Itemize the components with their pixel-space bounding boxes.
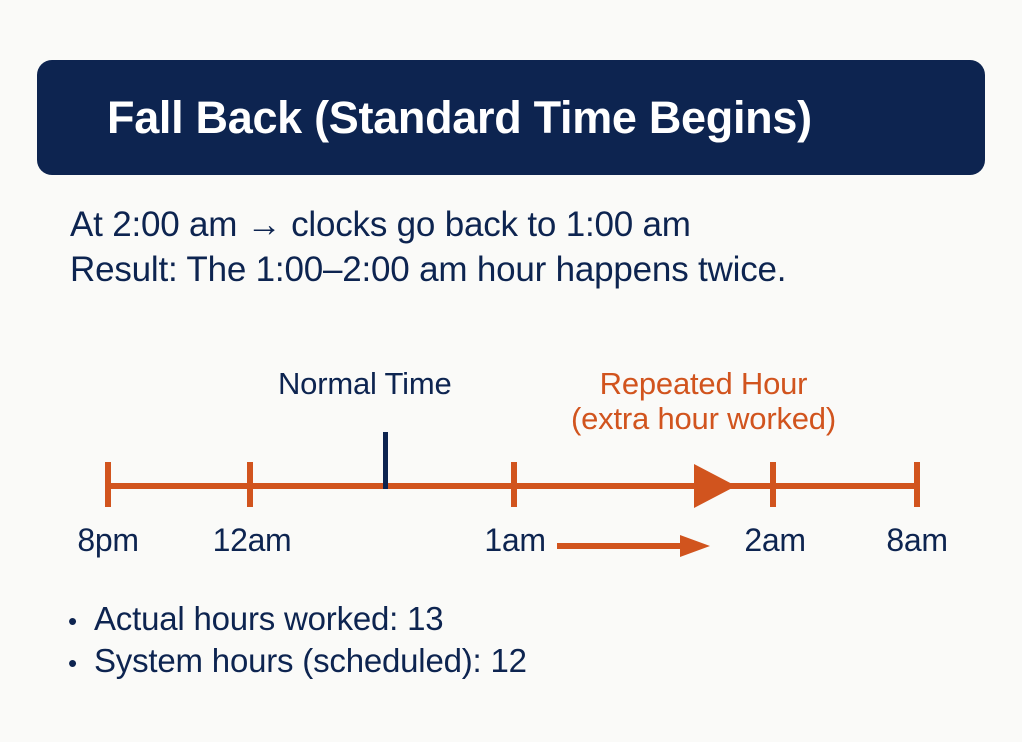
tick-label-12am: 12am: [213, 522, 292, 559]
arrow-head: [680, 535, 710, 557]
repeated-hour-arrowhead-icon: [694, 464, 736, 508]
timeline-diagram: Normal Time Repeated Hour (extra hour wo…: [0, 350, 1022, 580]
intro-block: At 2:00 am → clocks go back to 1:00 am R…: [70, 203, 970, 293]
tick-label-8am: 8am: [886, 522, 947, 559]
tick-label-2am: 2am: [744, 522, 805, 559]
tick-label-1am: 1am: [484, 522, 545, 559]
axis-tick-2am: [770, 462, 776, 507]
bullet-dot-icon: •: [68, 650, 94, 676]
bullet-text-actual-hours: Actual hours worked: 13: [94, 598, 443, 640]
repeated-hour-caption: Repeated Hour (extra hour worked): [571, 366, 836, 436]
intro-line-1: At 2:00 am → clocks go back to 1:00 am: [70, 203, 970, 248]
page-title: Fall Back (Standard Time Begins): [37, 93, 812, 143]
axis-tick-1am: [511, 462, 517, 507]
list-item: • System hours (scheduled): 12: [68, 640, 968, 682]
title-banner: Fall Back (Standard Time Begins): [37, 60, 985, 175]
list-item: • Actual hours worked: 13: [68, 598, 968, 640]
repeat-span-arrow-icon: [557, 535, 710, 557]
axis-tick-8am: [914, 462, 920, 507]
intro-line-2: Result: The 1:00–2:00 am hour happens tw…: [70, 248, 970, 293]
bullet-text-system-hours: System hours (scheduled): 12: [94, 640, 527, 682]
normal-time-caption: Normal Time: [278, 366, 452, 401]
repeated-hour-title: Repeated Hour: [600, 366, 808, 401]
summary-bullet-list: • Actual hours worked: 13 • System hours…: [68, 598, 968, 682]
bullet-dot-icon: •: [68, 608, 94, 634]
arrow-shaft: [557, 543, 683, 549]
axis-tick-8pm: [105, 462, 111, 507]
normal-time-marker: [383, 432, 388, 489]
tick-label-8pm: 8pm: [77, 522, 138, 559]
axis-tick-12am: [247, 462, 253, 507]
repeated-hour-subtitle: (extra hour worked): [571, 401, 836, 436]
